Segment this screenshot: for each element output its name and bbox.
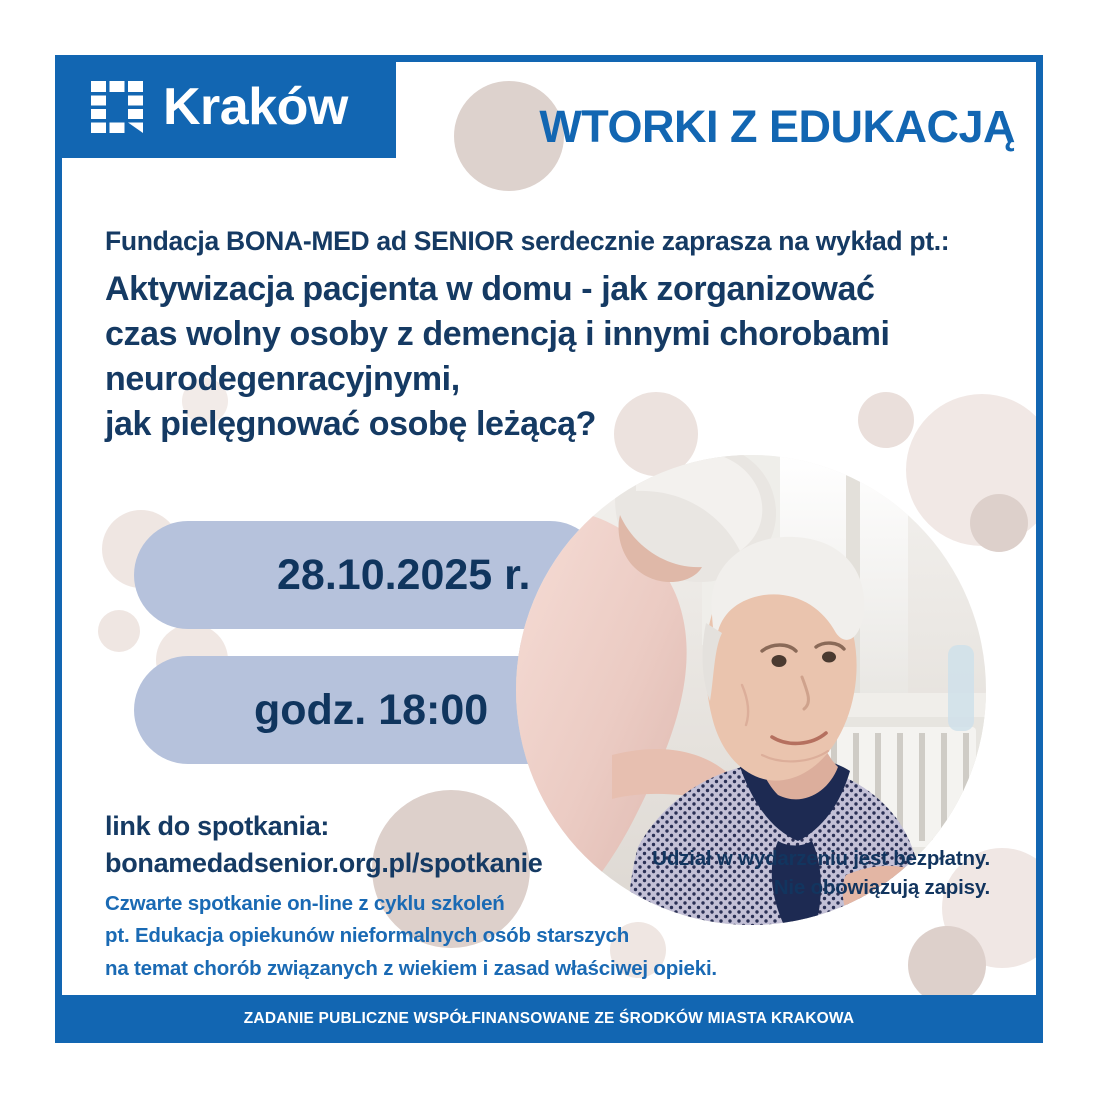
lecture-title-line-3: neurodegenracyjnymi, — [105, 357, 1005, 402]
lecture-title-line-2: czas wolny osoby z demencją i innymi cho… — [105, 312, 1005, 357]
meeting-link-label: link do spotkania: — [105, 808, 665, 845]
decorative-circle-10 — [908, 926, 986, 1004]
poster-card: Kraków WTORKI Z EDUKACJĄ Fundacja BONA-M… — [55, 55, 1043, 1043]
series-description-line-2: pt. Edukacja opiekunów nieformalnych osó… — [105, 920, 805, 952]
meeting-link-block: link do spotkania: bonamedadsenior.org.p… — [105, 808, 665, 881]
lecture-title-line-1: Aktywizacja pacjenta w domu - jak zorgan… — [105, 267, 1005, 312]
frame-border-right — [1036, 55, 1043, 1043]
series-description-line-3: na temat chorób związanych z wiekiem i z… — [105, 953, 805, 985]
krakow-logo-block: Kraków — [55, 55, 396, 158]
event-time-value: godz. 18:00 — [254, 686, 488, 735]
page-title: WTORKI Z EDUKACJĄ — [495, 101, 1015, 153]
series-description-line-1: Czwarte spotkanie on-line z cyklu szkole… — [105, 888, 805, 920]
decorative-circle-2 — [98, 610, 140, 652]
meeting-link-url[interactable]: bonamedadsenior.org.pl/spotkanie — [105, 845, 665, 882]
frame-border-left — [55, 55, 62, 1043]
footer-text: ZADANIE PUBLICZNE WSPÓŁFINANSOWANE ZE ŚR… — [244, 1010, 854, 1028]
decorative-circle-8 — [970, 494, 1028, 552]
invitation-block: Fundacja BONA-MED ad SENIOR serdecznie z… — [105, 226, 1005, 447]
invitation-intro: Fundacja BONA-MED ad SENIOR serdecznie z… — [105, 226, 1005, 257]
lecture-title: Aktywizacja pacjenta w domu - jak zorgan… — [105, 267, 1005, 447]
footer-bar: ZADANIE PUBLICZNE WSPÓŁFINANSOWANE ZE ŚR… — [55, 995, 1043, 1043]
event-date-value: 28.10.2025 r. — [277, 551, 530, 600]
lecture-title-line-4: jak pielęgnować osobę leżącą? — [105, 402, 1005, 447]
krakow-wordmark: Kraków — [163, 81, 348, 133]
free-note-line-1: Udział w wydarzeniu jest bezpłatny. — [615, 844, 990, 873]
krakow-grid-icon — [89, 79, 145, 135]
series-description: Czwarte spotkanie on-line z cyklu szkole… — [105, 888, 805, 985]
